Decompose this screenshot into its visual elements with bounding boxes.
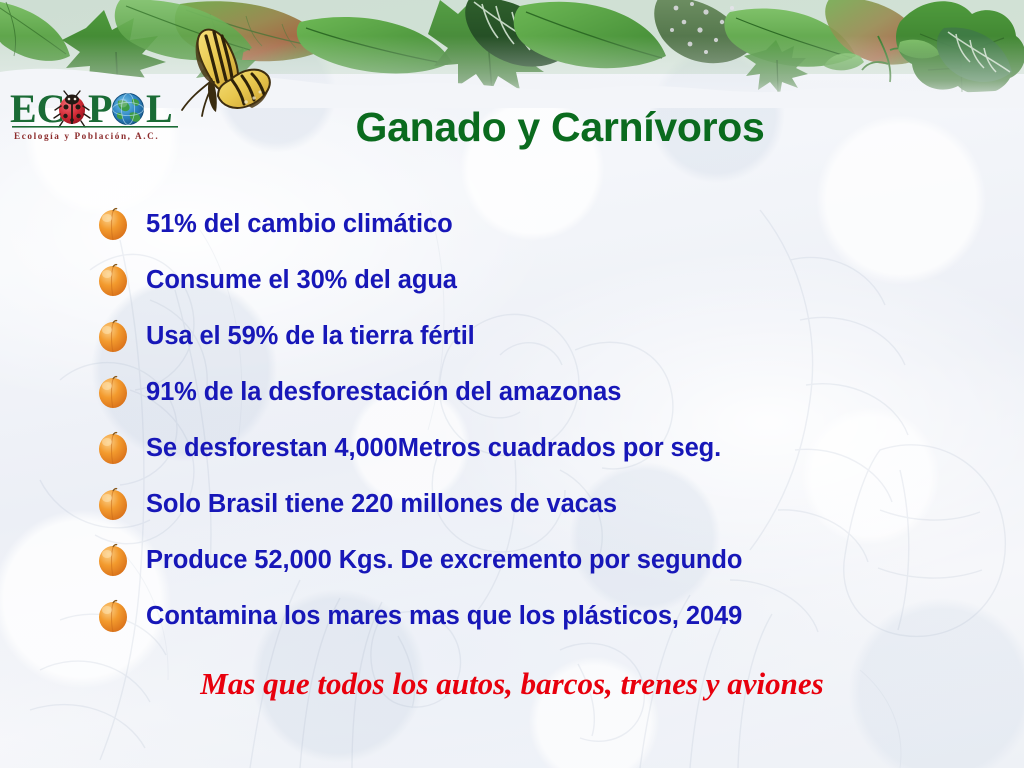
peach-bullet-icon <box>96 430 130 466</box>
peach-bullet-icon <box>96 374 130 410</box>
list-item: Se desforestan 4,000Metros cuadrados por… <box>96 420 996 476</box>
peach-bullet-icon <box>96 542 130 578</box>
peach-bullet-icon <box>96 206 130 242</box>
list-item: Consume el 30% del agua <box>96 252 996 308</box>
ecopol-logo[interactable]: EC P <box>8 84 188 146</box>
list-item-label: Solo Brasil tiene 220 millones de vacas <box>146 490 617 519</box>
list-item-label: Se desforestan 4,000Metros cuadrados por… <box>146 434 721 463</box>
peach-bullet-icon <box>96 598 130 634</box>
list-item: Usa el 59% de la tierra fértil <box>96 308 996 364</box>
slide-canvas: EC P <box>0 0 1024 768</box>
peach-bullet-icon <box>96 262 130 298</box>
list-item-label: Usa el 59% de la tierra fértil <box>146 322 475 351</box>
peach-bullet-icon <box>96 318 130 354</box>
page-title: Ganado y Carnívoros <box>180 104 940 151</box>
list-item: 91% de la desforestación del amazonas <box>96 364 996 420</box>
list-item-label: Contamina los mares mas que los plástico… <box>146 602 742 631</box>
globe-icon <box>113 94 144 125</box>
list-item: Contamina los mares mas que los plástico… <box>96 588 996 644</box>
logo-wordmark-p: P <box>88 86 112 131</box>
list-item: Solo Brasil tiene 220 millones de vacas <box>96 476 996 532</box>
list-item: 51% del cambio climático <box>96 196 996 252</box>
peach-bullet-icon <box>96 486 130 522</box>
list-item-label: 51% del cambio climático <box>146 210 453 239</box>
list-item: Produce 52,000 Kgs. De excremento por se… <box>96 532 996 588</box>
footer-emphasis-text: Mas que todos los autos, barcos, trenes … <box>0 666 1024 702</box>
list-item-label: Consume el 30% del agua <box>146 266 457 295</box>
logo-tagline: Ecología y Población, A.C. <box>14 131 159 141</box>
list-item-label: Produce 52,000 Kgs. De excremento por se… <box>146 546 742 575</box>
logo-wordmark-l: L <box>146 86 173 131</box>
list-item-label: 91% de la desforestación del amazonas <box>146 378 621 407</box>
bullet-list: 51% del cambio climático Consume el 30% … <box>96 196 996 644</box>
